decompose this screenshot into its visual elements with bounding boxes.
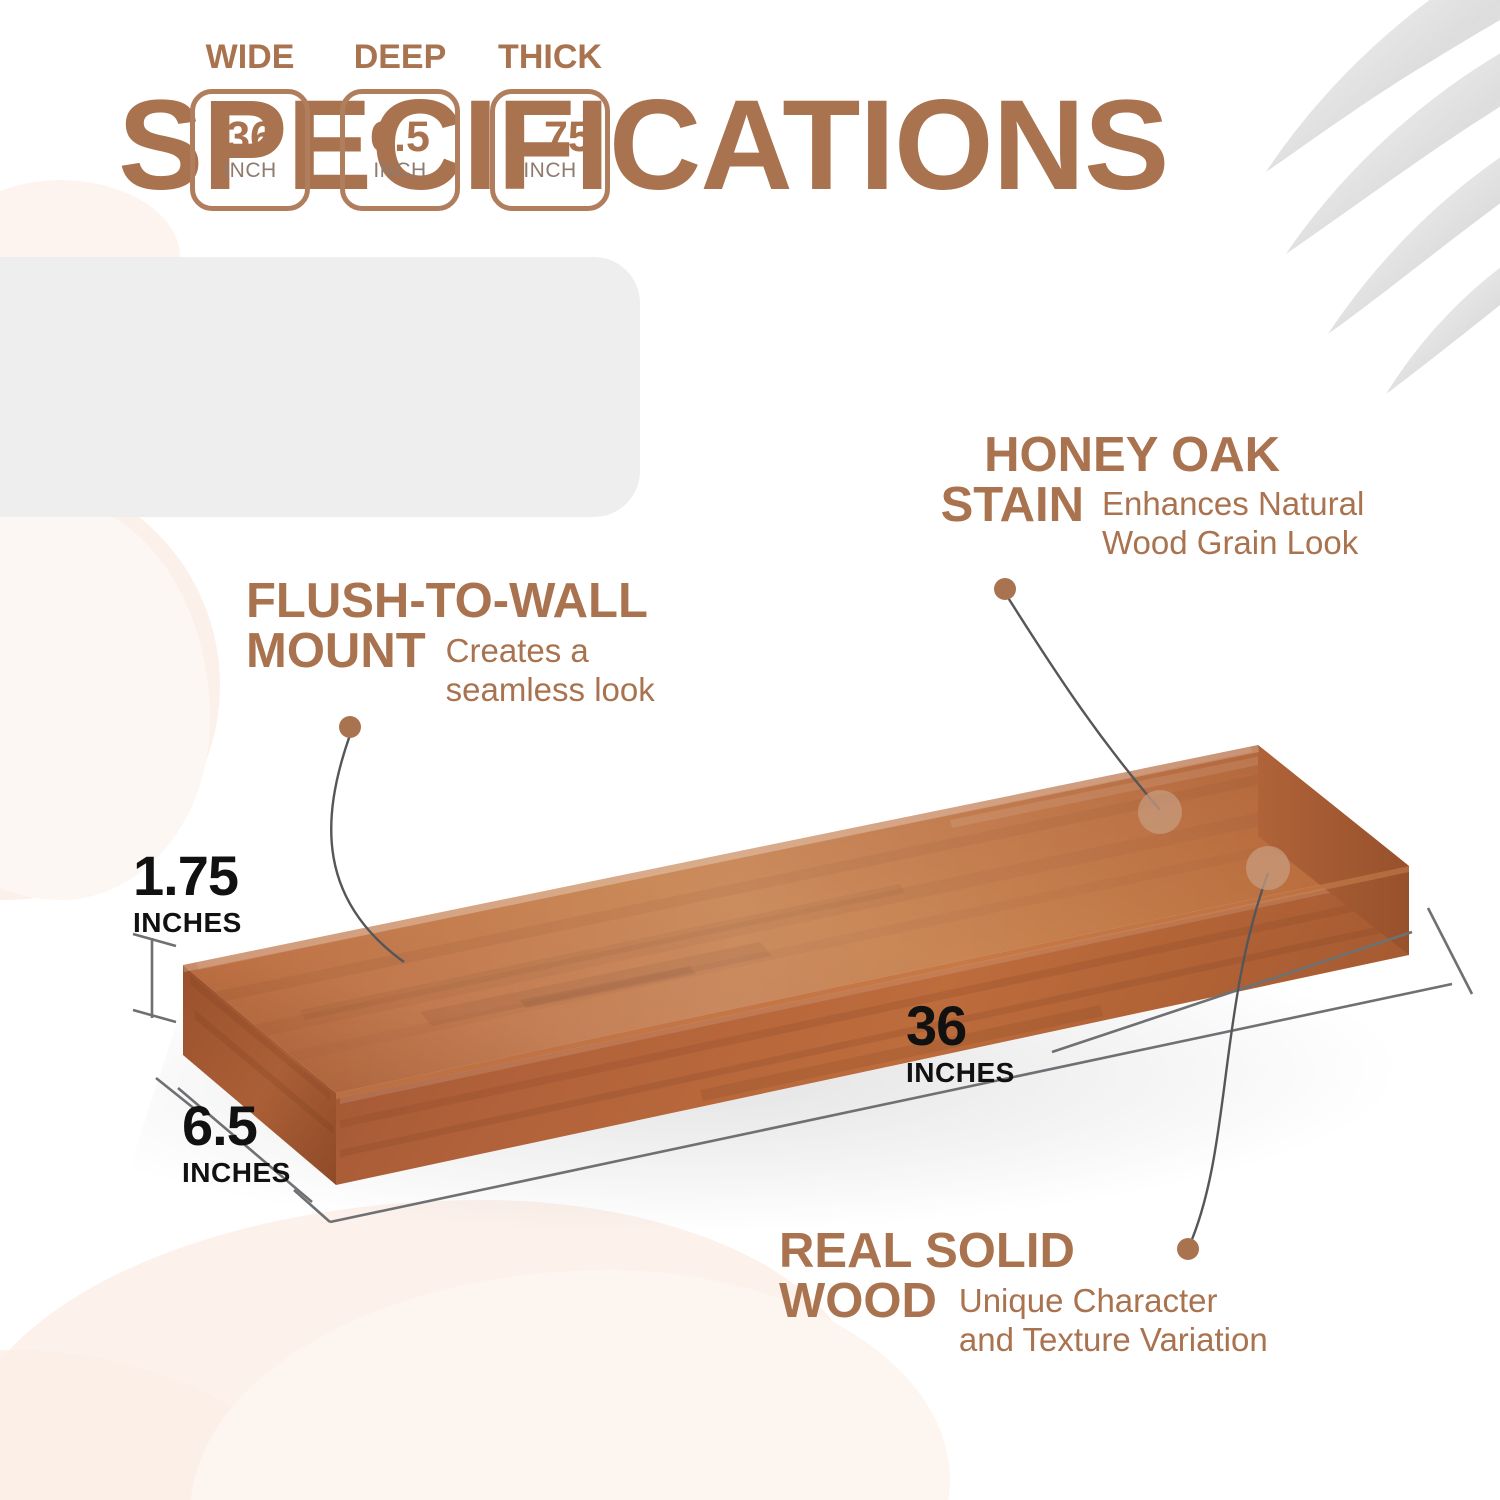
spec-summary-panel xyxy=(0,257,640,517)
callout-honey-sub-line2: Wood Grain Look xyxy=(1102,524,1364,562)
callout-wood-sub-line1: Unique Character xyxy=(959,1282,1268,1320)
callout-flush-to-wall-mount: FLUSH-TO-WALL MOUNT Creates a seamless l… xyxy=(246,576,655,709)
spec-value-thick: 1.75 xyxy=(508,117,592,158)
dimension-unit-width: INCHES xyxy=(906,1059,1015,1087)
callout-honey-title-line1: HONEY OAK xyxy=(984,428,1280,482)
spec-value-wide: 36 xyxy=(226,117,274,158)
shelf-front-edge-highlight xyxy=(336,866,1409,1099)
dimension-label-depth: 6.5 INCHES xyxy=(182,1098,291,1187)
shelf-drop-shadow xyxy=(109,980,1420,1230)
spec-badge-thick: THICK 1.75 INCH xyxy=(490,38,610,211)
callout-dot-honey xyxy=(994,578,1016,600)
width-dimension-line xyxy=(330,908,1472,1222)
callout-wood-title-line1: REAL SOLID xyxy=(779,1224,1075,1278)
callout-flush-sub-line1: Creates a xyxy=(446,632,655,670)
callout-wood-sub-line2: and Texture Variation xyxy=(959,1321,1268,1359)
spec-box-wide: 36 INCH xyxy=(190,89,310,211)
callout-leader-honey xyxy=(1007,596,1160,810)
spec-label-deep: DEEP xyxy=(354,38,447,77)
shelf-top-edge-highlight xyxy=(183,745,1259,972)
callout-dot-flush xyxy=(339,716,361,738)
dimension-value-width: 36 xyxy=(906,994,966,1057)
callout-flush-sub-line2: seamless look xyxy=(446,671,655,709)
dimension-label-width: 36 INCHES xyxy=(906,998,1015,1087)
callout-real-solid-wood: REAL SOLID WOOD Unique Character and Tex… xyxy=(779,1226,1268,1359)
spec-label-thick: THICK xyxy=(498,38,602,77)
beige-wave-bottom xyxy=(0,1200,860,1500)
spec-value-deep: 6.5 xyxy=(370,117,430,158)
spec-unit-thick: INCH xyxy=(523,159,576,183)
shelf-illustration xyxy=(0,0,1500,1500)
spec-box-deep: 6.5 INCH xyxy=(340,89,460,211)
background-decoration xyxy=(0,0,1500,1500)
callout-wood-subtitle: Unique Character and Texture Variation xyxy=(959,1282,1268,1359)
spec-badge-group: WIDE 36 INCH DEEP 6.5 INCH THICK 1.75 IN… xyxy=(190,38,610,211)
callout-wood-title-line2: WOOD xyxy=(779,1276,937,1326)
spec-badge-deep: DEEP 6.5 INCH xyxy=(340,38,460,211)
callout-flush-title-line1: FLUSH-TO-WALL xyxy=(246,574,648,628)
callout-honey-sub-line1: Enhances Natural xyxy=(1102,485,1364,523)
callout-honey-title-line2: STAIN xyxy=(941,478,1084,532)
beige-wave-bottom-far-left xyxy=(0,1350,320,1500)
shelf-front-face xyxy=(336,866,1409,1185)
spec-unit-deep: INCH xyxy=(373,159,426,183)
dimension-value-depth: 6.5 xyxy=(182,1094,257,1157)
spec-label-wide: WIDE xyxy=(206,38,295,77)
spec-badge-wide: WIDE 36 INCH xyxy=(190,38,310,211)
callout-flush-title-line2: MOUNT xyxy=(246,626,426,676)
callout-target-dot-wood xyxy=(1246,846,1290,890)
shelf-top-grain xyxy=(180,740,1420,1100)
callout-leader-flush xyxy=(331,735,404,962)
beige-blob-left xyxy=(0,470,220,900)
dimension-value-thickness: 1.75 xyxy=(133,844,238,907)
dimension-unit-depth: INCHES xyxy=(182,1159,291,1187)
spec-unit-wide: INCH xyxy=(223,159,276,183)
spec-box-thick: 1.75 INCH xyxy=(490,89,610,211)
shelf-left-end-grain xyxy=(190,975,330,1100)
thickness-dimension-line xyxy=(133,934,176,1022)
shelf-right-end-face xyxy=(1258,745,1409,955)
callout-target-dot-honey xyxy=(1138,790,1182,834)
shelf-front-grain xyxy=(340,870,1409,1157)
callout-honey-oak-stain: HONEY OAK STAIN Enhances Natural Wood Gr… xyxy=(888,430,1364,562)
specifications-infographic: SPECIFICATIONS WIDE 36 INCH DEEP 6.5 INC… xyxy=(0,0,1500,1500)
beige-blob-left-inner xyxy=(0,500,210,900)
dimension-unit-thickness: INCHES xyxy=(133,909,242,937)
dimension-label-thickness: 1.75 INCHES xyxy=(133,848,242,937)
callout-leader-wood xyxy=(1188,873,1268,1249)
callout-honey-subtitle: Enhances Natural Wood Grain Look xyxy=(1102,485,1364,562)
callout-flush-subtitle: Creates a seamless look xyxy=(446,632,655,709)
shelf-top-face xyxy=(183,745,1409,1093)
